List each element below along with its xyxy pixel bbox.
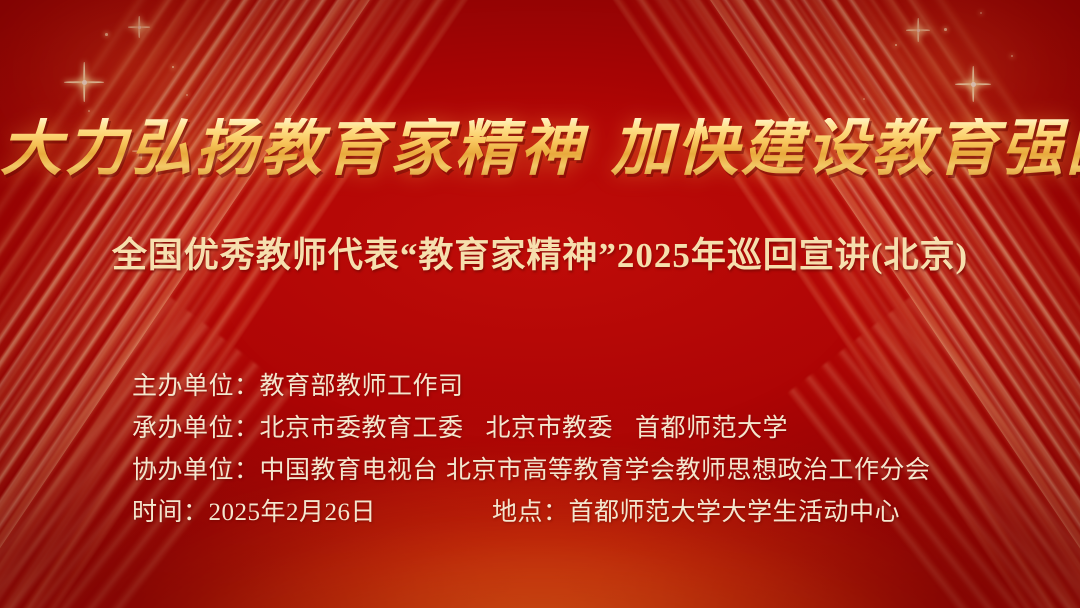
poster-details-block: 主办单位：教育部教师工作司 承办单位：北京市委教育工委北京市教委首都师范大学 协…: [0, 366, 1080, 534]
detail-line-organizer: 主办单位：教育部教师工作司: [132, 366, 948, 408]
organizer-value: 教育部教师工作司: [260, 373, 464, 400]
subtitle-quoted-phrase: “教育家精神”: [400, 236, 617, 275]
detail-line-support: 协办单位：中国教育电视台北京市高等教育学会教师思想政治工作分会: [132, 450, 948, 492]
poster-main-title: 大力弘扬教育家精神加快建设教育强国: [0, 118, 1080, 180]
time-label: 时间：: [132, 499, 209, 526]
time-value: 2025年2月26日: [209, 499, 377, 526]
organizer-label: 主办单位：: [132, 373, 260, 400]
poster-banner: 大力弘扬教育家精神加快建设教育强国 全国优秀教师代表“教育家精神”2025年巡回…: [0, 0, 1080, 608]
host-value-3: 首都师范大学: [635, 415, 788, 442]
detail-line-time-place: 时间：2025年2月26日地点：首都师范大学大学生活动中心: [132, 492, 948, 534]
host-label: 承办单位：: [132, 415, 260, 442]
detail-line-host: 承办单位：北京市委教育工委北京市教委首都师范大学: [132, 408, 948, 450]
support-label: 协办单位：: [132, 457, 260, 484]
host-value-2: 北京市教委: [486, 415, 614, 442]
place-label: 地点：: [492, 499, 569, 526]
main-title-part-1: 大力弘扬教育家精神: [0, 115, 585, 183]
main-title-part-2: 加快建设教育强国: [611, 115, 1080, 183]
place-value: 首都师范大学大学生活动中心: [569, 499, 901, 526]
subtitle-prefix: 全国优秀教师代表: [112, 236, 400, 275]
host-value-1: 北京市委教育工委: [260, 415, 464, 442]
support-value-2: 北京市高等教育学会教师思想政治工作分会: [446, 457, 931, 484]
poster-content: 大力弘扬教育家精神加快建设教育强国 全国优秀教师代表“教育家精神”2025年巡回…: [0, 0, 1080, 608]
poster-subtitle: 全国优秀教师代表“教育家精神”2025年巡回宣讲(北京): [0, 238, 1080, 273]
subtitle-suffix: 2025年巡回宣讲(北京): [617, 236, 968, 275]
support-value-1: 中国教育电视台: [260, 457, 439, 484]
